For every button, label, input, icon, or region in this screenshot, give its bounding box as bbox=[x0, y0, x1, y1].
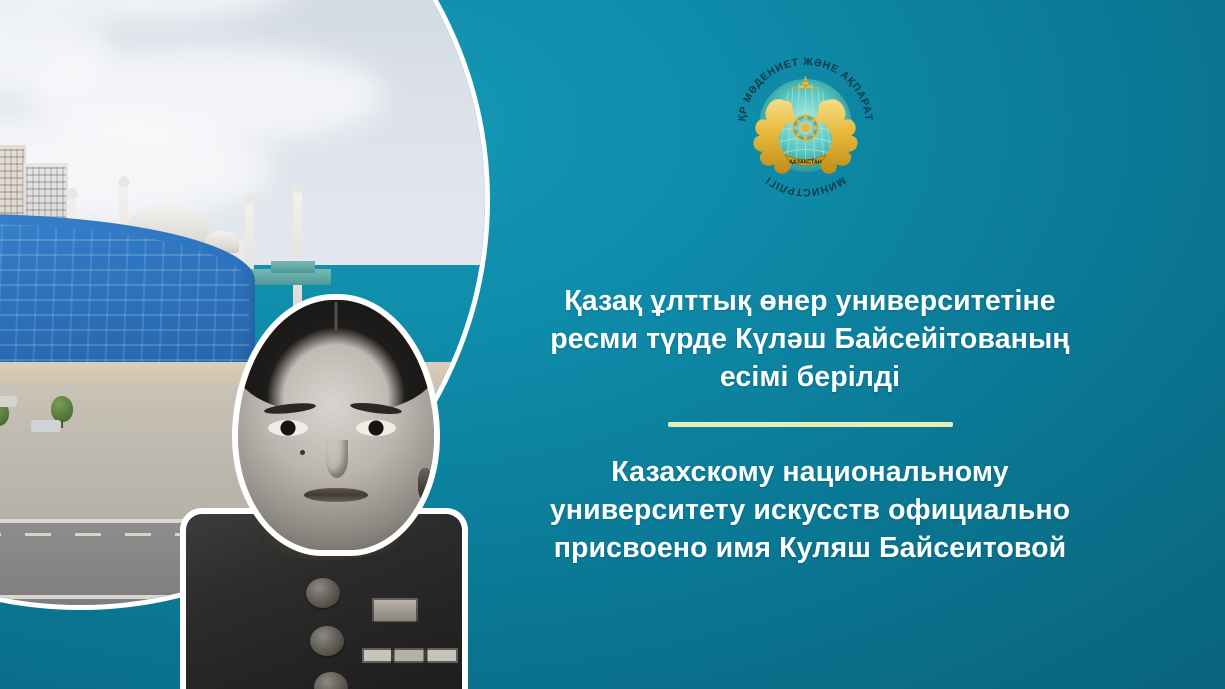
beauty-mark bbox=[300, 450, 305, 455]
teal-roof bbox=[271, 261, 315, 273]
parked-car bbox=[0, 396, 17, 407]
subline-russian-line-1: Казахскому национальному bbox=[611, 456, 1008, 488]
divider-wrap bbox=[510, 422, 1110, 427]
announcement-card: ҚАЗАҚСТАН ҚР МӘДЕНИЕТ ЖӘНЕ АҚПАРАТ МИНИС… bbox=[0, 0, 1225, 689]
earring bbox=[418, 468, 432, 500]
coat-button bbox=[314, 672, 348, 689]
headline-kazakh-line-2: ресми түрде Күләш Байсейітованың bbox=[550, 323, 1069, 355]
headline-kazakh-line-3: есімі берілді bbox=[720, 361, 900, 393]
ribbon-bar bbox=[362, 648, 458, 663]
parked-car bbox=[31, 420, 61, 432]
nose bbox=[326, 440, 348, 478]
medal-badge bbox=[372, 598, 418, 636]
announcement-text-block: Қазақ ұлттық өнер университетіне ресми т… bbox=[510, 282, 1110, 567]
subline-russian-line-3: присвоено имя Куляш Байсеитовой bbox=[554, 532, 1067, 564]
mouth bbox=[304, 488, 368, 502]
kazakhstan-ministry-emblem: ҚАЗАҚСТАН ҚР МӘДЕНИЕТ ЖӘНЕ АҚПАРАТ МИНИС… bbox=[728, 48, 883, 203]
portrait-head bbox=[238, 300, 434, 550]
emblem-scroll-text: ҚАЗАҚСТАН bbox=[789, 159, 821, 165]
eye-right bbox=[356, 420, 396, 436]
hair-part bbox=[335, 302, 338, 330]
emblem-circular-text-bottom: МИНИСТРЛІГІ bbox=[764, 174, 847, 197]
subline-russian-line-2: университету искусств официально bbox=[550, 494, 1070, 526]
subline-russian: Казахскому национальному университету ис… bbox=[510, 453, 1110, 568]
text-divider bbox=[668, 422, 953, 427]
headline-kazakh: Қазақ ұлттық өнер университетіне ресми т… bbox=[510, 282, 1110, 397]
coat-button bbox=[310, 626, 344, 656]
tree bbox=[51, 396, 73, 422]
headline-kazakh-line-1: Қазақ ұлттық өнер университетіне bbox=[564, 285, 1056, 317]
minaret bbox=[293, 191, 302, 313]
coat-button bbox=[306, 578, 340, 608]
eye-left bbox=[268, 420, 308, 436]
kulyash-baiseitova-portrait bbox=[180, 300, 472, 689]
